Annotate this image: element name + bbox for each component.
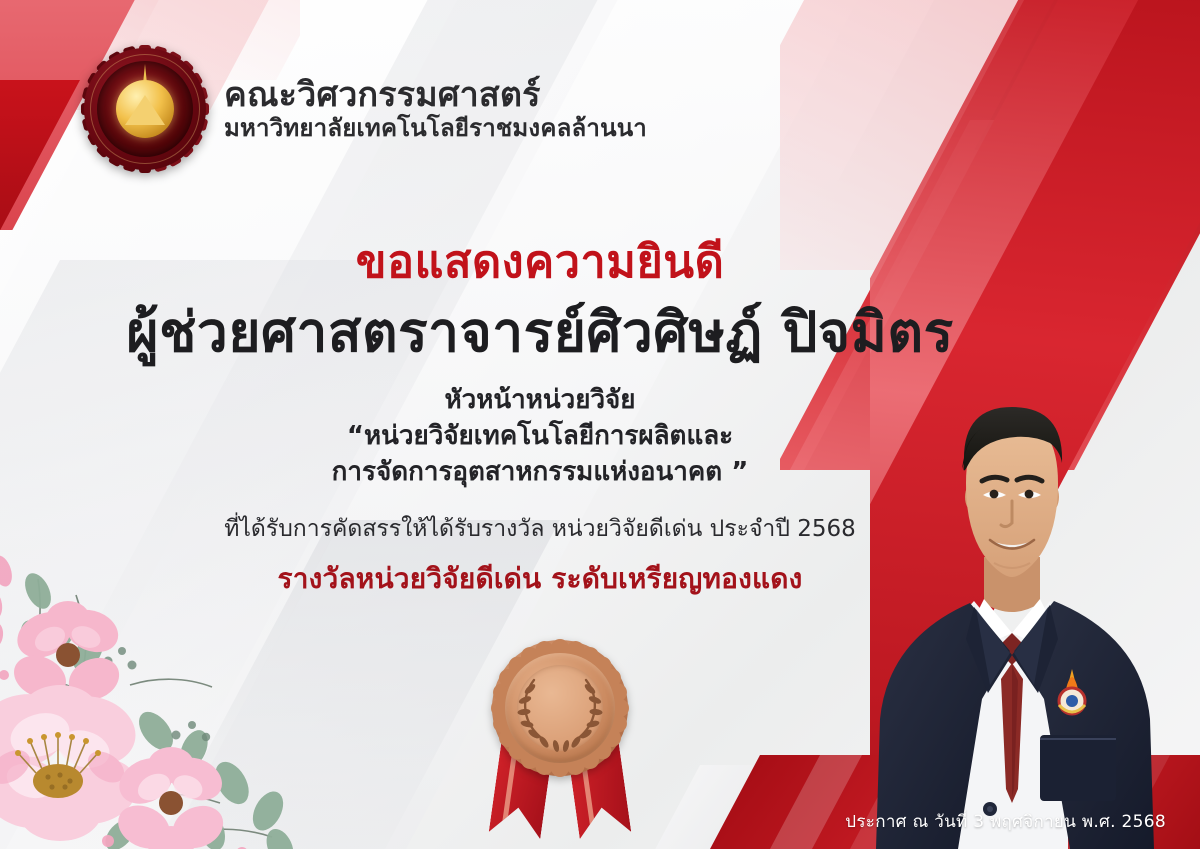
- honoree-portrait: [862, 389, 1162, 849]
- congratulations-poster: คณะวิศวกรรมศาสตร์ มหาวิทยาลัยเทคโนโลยีรา…: [0, 0, 1200, 849]
- faculty-header: คณะวิศวกรรมศาสตร์ มหาวิทยาลัยเทคโนโลยีรา…: [84, 48, 647, 170]
- faculty-name: คณะวิศวกรรมศาสตร์: [224, 76, 647, 114]
- rmutl-engineering-emblem-icon: [84, 48, 206, 170]
- bronze-medal-rosette-icon: [487, 640, 633, 840]
- flower-lower-right: [111, 747, 230, 849]
- announcement-date: ประกาศ ณ วันที่ 3 พฤศจิกายน พ.ศ. 2568: [845, 808, 1166, 835]
- laurel-wreath-icon: [510, 658, 610, 758]
- faculty-brand-text: คณะวิศวกรรมศาสตร์ มหาวิทยาลัยเทคโนโลยีรา…: [224, 76, 647, 142]
- medal-rosette-body: [492, 640, 628, 776]
- pagoda-icon: [125, 95, 165, 125]
- honoree-name: ผู้ช่วยศาสตราจารย์ศิวศิษฏ์ ปิจมิตร: [0, 302, 1080, 364]
- congratulations-headline: ขอแสดงความยินดี: [0, 236, 1080, 288]
- university-name: มหาวิทยาลัยเทคโนโลยีราชมงคลล้านนา: [224, 115, 647, 142]
